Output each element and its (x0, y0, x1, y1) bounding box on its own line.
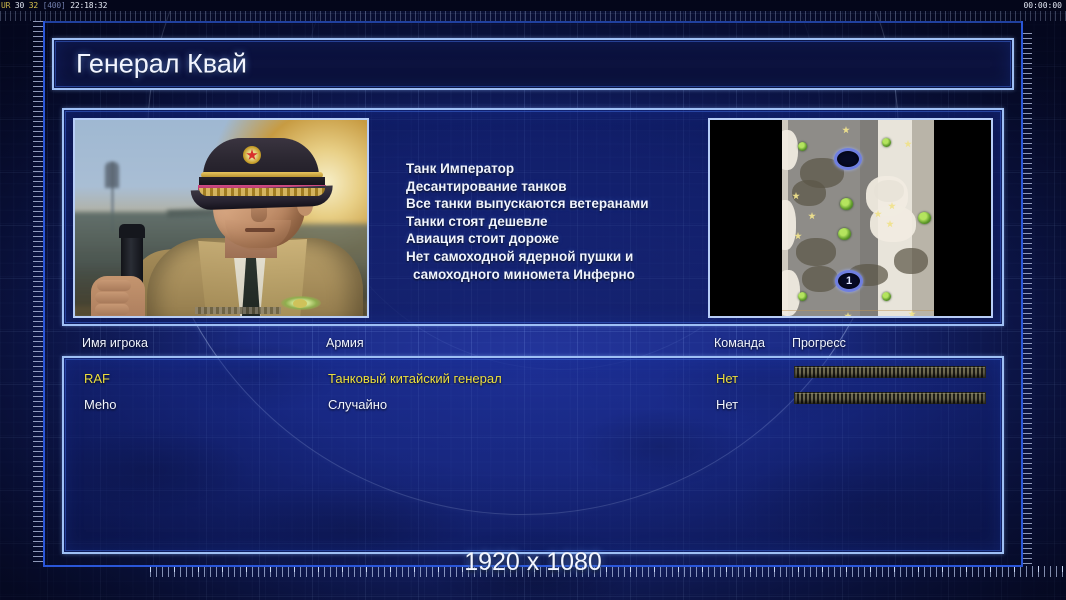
map-terrain-patch (802, 266, 838, 292)
page-title: Генерал Квай (76, 49, 247, 80)
frame-line-left (43, 21, 45, 567)
portrait-finger-3 (95, 304, 129, 315)
description-line: самоходного миномета Инферно (406, 266, 716, 284)
map-resource-icon (808, 212, 816, 220)
portrait-finger-1 (97, 280, 131, 291)
map-tree-icon (882, 292, 891, 301)
map-start-position-marker[interactable] (834, 148, 862, 170)
map-snow-patch (782, 200, 796, 250)
progress-bar (794, 392, 986, 404)
portrait-bg-figure (105, 162, 119, 188)
header-progress: Прогресс (792, 336, 846, 350)
cell-team[interactable]: Нет (716, 392, 738, 418)
cell-army[interactable]: Случайно (328, 392, 387, 418)
hud-seg-2: 32 (29, 1, 38, 10)
hud-seg-4: 22:18:32 (70, 1, 107, 10)
header-player-name: Имя игрока (82, 336, 148, 350)
portrait-mouth (245, 228, 275, 232)
general-portrait-frame (73, 118, 369, 318)
header-team: Команда (714, 336, 765, 350)
ruler-right (1022, 33, 1032, 566)
map-tree-icon (798, 292, 807, 301)
map-resource-icon (908, 310, 916, 318)
ruler-top (0, 11, 1066, 21)
portrait-pistol-top (119, 224, 145, 238)
map-preview-image: 1 (782, 120, 934, 318)
description-line: Все танки выпускаются ветеранами (406, 195, 716, 213)
general-portrait-image (75, 120, 367, 316)
cell-player-name: RAF (84, 366, 110, 392)
hud-seg-1: 30 (15, 1, 24, 10)
general-description-list: Танк ИмператорДесантирование танковВсе т… (406, 160, 716, 283)
progress-bar (794, 366, 986, 378)
cell-army[interactable]: Танковый китайский генерал (328, 366, 502, 392)
map-terrain-patch (894, 248, 928, 274)
description-line: Авиация стоит дороже (406, 230, 716, 248)
portrait-finger-2 (95, 292, 129, 303)
map-tree-icon (840, 198, 853, 210)
hud-debug-text: UR 30 32 [400] 22:18:32 (1, 0, 107, 11)
portrait-cap-braid (199, 188, 325, 196)
map-start-position-marker[interactable]: 1 (835, 270, 863, 292)
frame-line-right (1021, 21, 1023, 567)
cell-player-name: Meho (84, 392, 117, 418)
skirmish-lobby-screen: UR 30 32 [400] 22:18:32 00:00:00 Генерал… (0, 0, 1066, 600)
frame-line-top (43, 21, 1023, 23)
map-snow-patch (870, 206, 916, 242)
table-row[interactable]: RAFТанковый китайский генералНет (64, 366, 1002, 392)
map-tree-icon (918, 212, 931, 224)
players-list-panel: RAFТанковый китайский генералНетMehoСлуч… (62, 356, 1004, 554)
resolution-label: 1920 x 1080 (0, 548, 1066, 577)
table-row[interactable]: MehoСлучайноНет (64, 392, 1002, 418)
description-line: Нет самоходной ядерной пушки и (406, 248, 716, 266)
hud-seg-3: [400] (43, 1, 66, 10)
general-title-panel: Генерал Квай (52, 38, 1014, 90)
players-table-header: Имя игрока Армия Команда Прогресс (62, 336, 1004, 358)
map-preview-frame[interactable]: 1 (708, 118, 993, 318)
description-line: Танк Император (406, 160, 716, 178)
map-boundary-line (782, 310, 934, 311)
map-snow-patch (782, 130, 798, 170)
hud-seg-0: UR (1, 1, 10, 10)
portrait-bottom-strip (195, 307, 281, 314)
hud-timer: 00:00:00 (1023, 0, 1062, 11)
ruler-left (33, 21, 43, 566)
portrait-chest-badge-center (293, 299, 307, 308)
map-terrain-patch (796, 238, 836, 266)
description-line: Десантирование танков (406, 178, 716, 196)
map-resource-icon (842, 126, 850, 134)
general-info-panel: Танк ИмператорДесантирование танковВсе т… (62, 108, 1004, 326)
description-line: Танки стоят дешевле (406, 213, 716, 231)
header-army: Армия (326, 336, 364, 350)
hud-strip: UR 30 32 [400] 22:18:32 00:00:00 (0, 0, 1066, 11)
map-tree-icon (798, 142, 807, 151)
cell-team[interactable]: Нет (716, 366, 738, 392)
map-resource-icon (904, 140, 912, 148)
map-terrain-patch (792, 180, 826, 206)
map-resource-icon (844, 312, 852, 318)
map-tree-icon (838, 228, 851, 240)
map-tree-icon (882, 138, 891, 147)
